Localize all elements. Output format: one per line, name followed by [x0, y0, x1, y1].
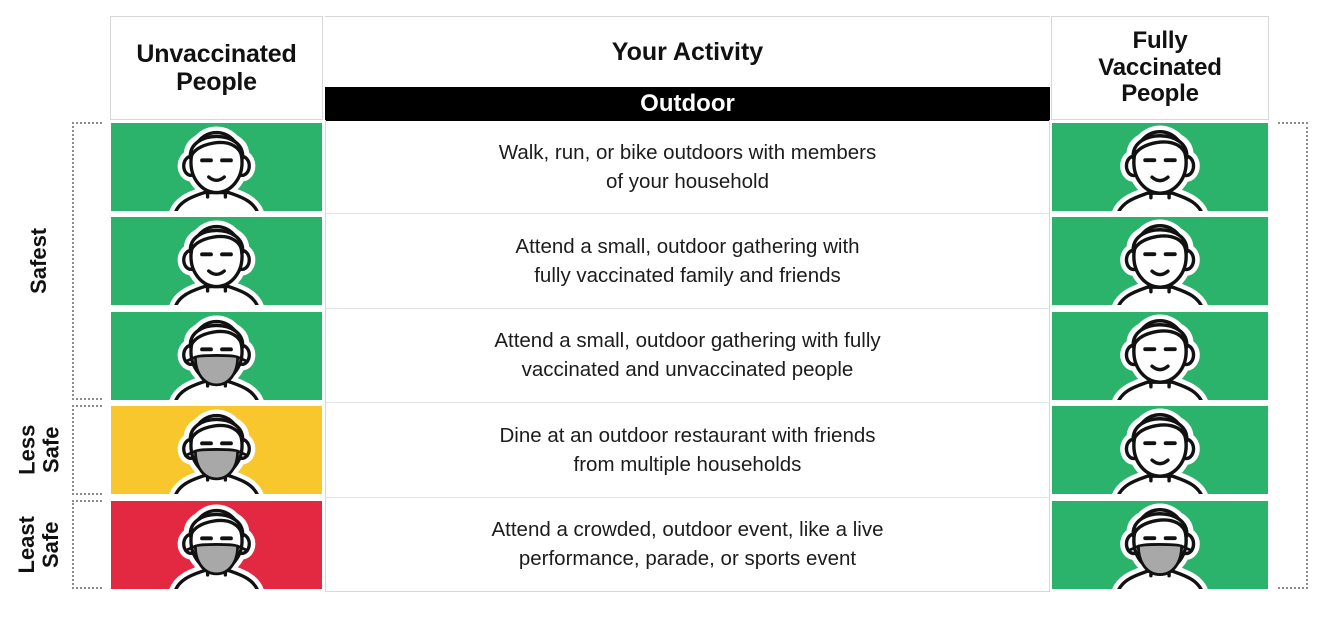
risk-level-label-least-safe: Least Safe [8, 500, 70, 589]
table-row: Walk, run, or bike outdoors with members… [110, 120, 1269, 214]
activity-cell-row-2: Attend a small, outdoor gathering withfu… [325, 214, 1050, 308]
risk-level-label-safest: Safest [8, 122, 70, 400]
activity-text-line: Walk, run, or bike outdoors with members [499, 141, 877, 164]
person-face-masked-icon [111, 501, 322, 589]
risk-bracket-left [72, 122, 102, 400]
risk-level-label-text: Safest [27, 228, 51, 294]
activity-cell-row-5: Attend a crowded, outdoor event, like a … [325, 498, 1050, 592]
unvaccinated-cell-row-5 [111, 501, 322, 589]
person-face-icon [1052, 312, 1268, 400]
person-face-icon [111, 217, 322, 305]
table-row: Dine at an outdoor restaurant with frien… [110, 403, 1269, 497]
person-face-icon [111, 123, 322, 211]
activity-text-line: vaccinated and unvaccinated people [522, 358, 854, 381]
unvaccinated-cell-row-4 [111, 406, 322, 494]
table-header: Unvaccinated People Your Activity Outdoo… [110, 16, 1269, 120]
table-row: Attend a small, outdoor gathering withfu… [110, 214, 1269, 308]
table-body: Walk, run, or bike outdoors with members… [110, 120, 1269, 592]
activity-text-line: Attend a small, outdoor gathering with f… [494, 329, 880, 352]
person-face-masked-icon [1052, 501, 1268, 589]
risk-level-label-text: Less Safe [15, 425, 63, 475]
person-face-icon [1052, 123, 1268, 211]
vaccinated-cell-row-5 [1052, 501, 1268, 589]
person-face-icon [1052, 217, 1268, 305]
activity-text: Attend a small, outdoor gathering withfu… [515, 232, 859, 290]
activity-text-line: Attend a crowded, outdoor event, like a … [491, 518, 883, 541]
person-face-masked-icon [111, 406, 322, 494]
vaccinated-cell-row-3 [1052, 312, 1268, 400]
vaccinated-cell-row-4 [1052, 406, 1268, 494]
activity-text-line: performance, parade, or sports event [519, 547, 856, 570]
activity-text: Attend a crowded, outdoor event, like a … [491, 515, 883, 573]
activity-cell-row-3: Attend a small, outdoor gathering with f… [325, 309, 1050, 403]
activity-text: Dine at an outdoor restaurant with frien… [499, 421, 875, 479]
header-your-activity-title: Your Activity [325, 17, 1050, 87]
activity-text: Walk, run, or bike outdoors with members… [499, 138, 877, 196]
header-your-activity-column: Your Activity Outdoor [325, 16, 1050, 120]
vaccinated-cell-row-2 [1052, 217, 1268, 305]
unvaccinated-cell-row-1 [111, 123, 322, 211]
unvaccinated-cell-row-2 [111, 217, 322, 305]
risk-level-label-text: Least Safe [15, 516, 63, 573]
activity-text-line: fully vaccinated family and friends [534, 264, 841, 287]
unvaccinated-cell-row-3 [111, 312, 322, 400]
person-face-masked-icon [111, 312, 322, 400]
person-face-icon [1052, 406, 1268, 494]
risk-level-label-less-safe: Less Safe [8, 405, 70, 494]
vaccinated-cell-row-1 [1052, 123, 1268, 211]
activity-text-line: of your household [606, 170, 769, 193]
header-outdoor-band: Outdoor [325, 87, 1050, 121]
activity-text-line: Dine at an outdoor restaurant with frien… [499, 424, 875, 447]
table-row: Attend a small, outdoor gathering with f… [110, 309, 1269, 403]
table-row: Attend a crowded, outdoor event, like a … [110, 498, 1269, 592]
risk-bracket-left [72, 405, 102, 494]
header-unvaccinated-people: Unvaccinated People [110, 16, 323, 120]
activity-cell-row-1: Walk, run, or bike outdoors with members… [325, 120, 1050, 214]
risk-bracket-left [72, 500, 102, 589]
activity-cell-row-4: Dine at an outdoor restaurant with frien… [325, 403, 1050, 497]
activity-text-line: Attend a small, outdoor gathering with [515, 235, 859, 258]
activity-text: Attend a small, outdoor gathering with f… [494, 326, 880, 384]
covid-activity-risk-chart: SafestLess SafeLeast Safe Unvaccinated P… [0, 0, 1332, 626]
risk-bracket-right [1278, 122, 1308, 589]
activity-text-line: from multiple households [574, 453, 802, 476]
header-fully-vaccinated-people: Fully Vaccinated People [1051, 16, 1269, 120]
chart-table: Unvaccinated People Your Activity Outdoo… [110, 16, 1269, 592]
